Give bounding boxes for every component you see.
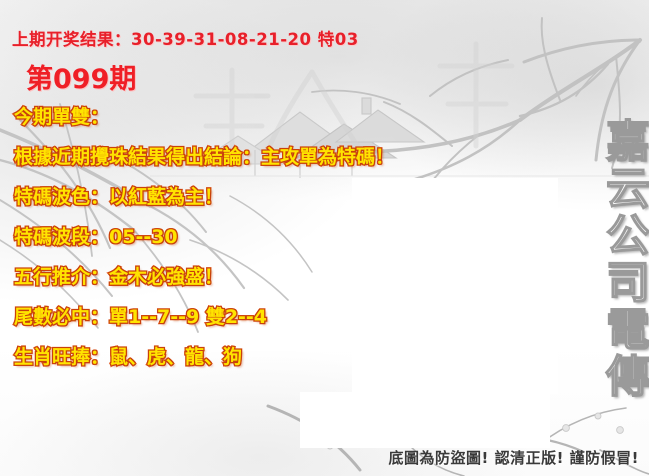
tip-line-text: 特碼波段：05--30 — [14, 226, 178, 248]
lottery-tip-poster: 嘉云公司電傳 上期开奖结果：30-39-31-08-21-20 特03 第099… — [0, 0, 649, 476]
anti-counterfeit-notice: 底圖為防盜圖! 認清正版! 謹防假冒! — [389, 447, 639, 468]
tip-line-text: 五行推介：金木必強盛！ — [14, 266, 223, 288]
tip-line-text: 根據近期攪珠結果得出結論：主攻單為特碼！ — [14, 146, 394, 168]
tip-line: 根據近期攪珠結果得出結論：主攻單為特碼！ — [14, 148, 574, 188]
tip-line: 五行推介：金木必強盛！ — [14, 268, 574, 308]
tip-line-text: 尾數必中：單1--7--9 雙2--4 — [14, 306, 267, 328]
background-white-panel-lower — [300, 392, 550, 448]
tip-line: 今期單雙： — [14, 108, 574, 148]
tip-line: 尾數必中：單1--7--9 雙2--4 — [14, 308, 574, 348]
period-number: 第099期 — [26, 57, 136, 96]
tip-lines-container: 今期單雙： 根據近期攪珠結果得出結論：主攻單為特碼！ 特碼波色：以紅藍為主！ 特… — [14, 108, 574, 388]
tip-line-text: 生肖旺捧：鼠、虎、龍、狗 — [14, 346, 242, 368]
tip-line-text: 特碼波色：以紅藍為主！ — [14, 186, 223, 208]
tip-line-text: 今期單雙： — [14, 106, 109, 128]
tip-line: 特碼波色：以紅藍為主！ — [14, 188, 574, 228]
tip-line: 特碼波段：05--30 — [14, 228, 574, 268]
tip-line: 生肖旺捧：鼠、虎、龍、狗 — [14, 348, 574, 388]
previous-draw-result: 上期开奖结果：30-39-31-08-21-20 特03 — [12, 26, 359, 50]
